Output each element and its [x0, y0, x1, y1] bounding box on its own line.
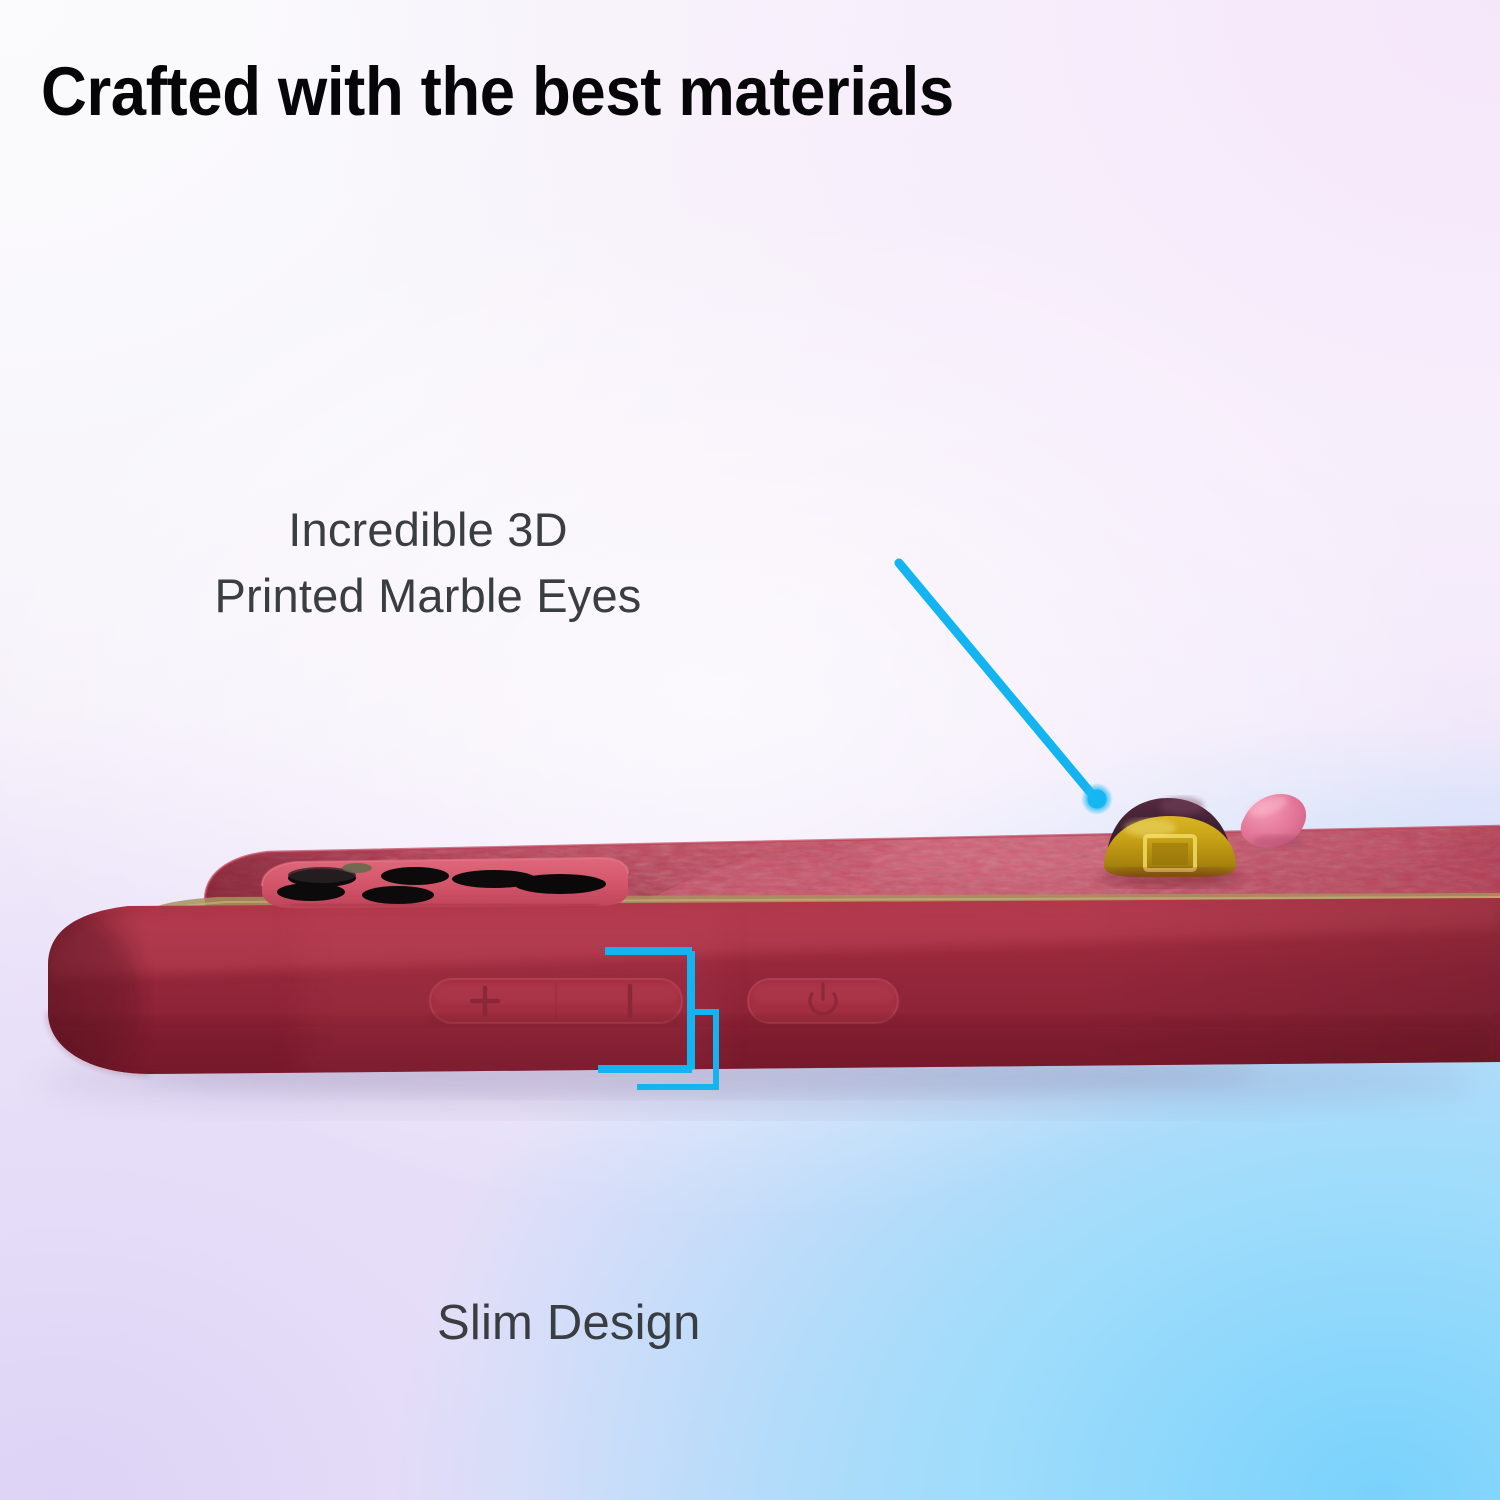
page-headline: Crafted with the best materials: [41, 57, 954, 127]
callout-label-slim-design: Slim Design: [437, 1297, 701, 1351]
leader-bracket-slim-design: [598, 951, 716, 1293]
callout-label-marble-eyes: Incredible 3DPrinted Marble Eyes: [163, 497, 693, 630]
leader-line-marble-eyes: [627, 563, 1113, 815]
callout-line-1: Incredible 3D: [288, 503, 568, 556]
callout-leader-lines: [0, 0, 1500, 1500]
product-marketing-image: Crafted with the best materials Incredib…: [0, 0, 1500, 1500]
callout-line-2: Printed Marble Eyes: [215, 569, 642, 622]
